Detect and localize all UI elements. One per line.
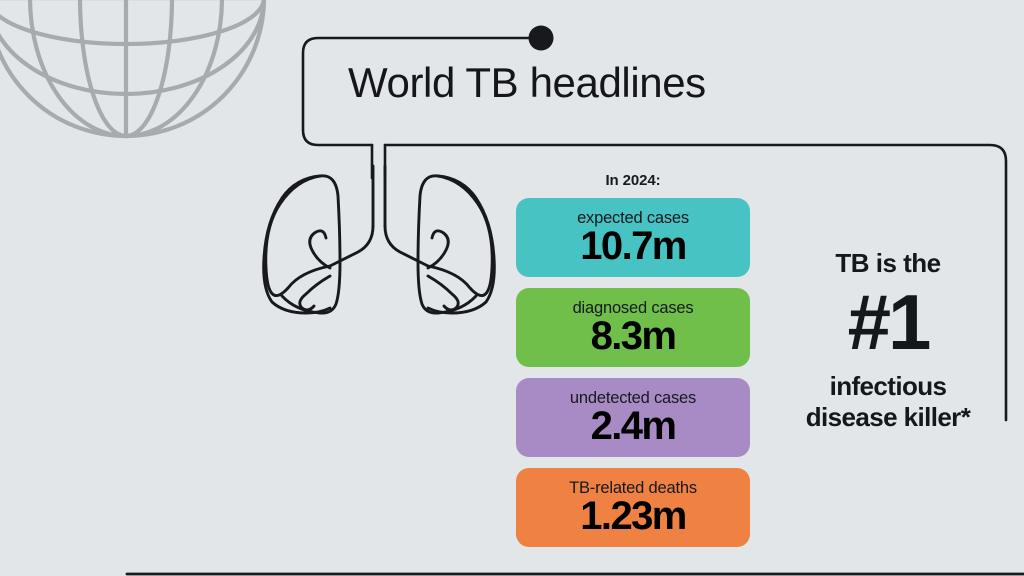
lungs-outline-icon	[264, 166, 495, 313]
stat-value: 1.23m	[580, 496, 685, 537]
callout-trailing-line-1: infectious	[772, 371, 1004, 402]
connector-end-dot	[529, 26, 554, 51]
infographic-canvas: World TB headlines In 2024: expected cas…	[0, 0, 1024, 576]
stat-bar-tb-related-deaths: TB-related deaths 1.23m	[516, 468, 750, 547]
stat-value: 10.7m	[580, 226, 685, 267]
stat-value: 2.4m	[591, 406, 676, 447]
callout-trailing-line-2: disease killer*	[772, 402, 1004, 433]
callout-rank-text: #1	[772, 283, 1004, 361]
page-title: World TB headlines	[348, 62, 768, 104]
stats-column: In 2024: expected cases 10.7m diagnosed …	[516, 172, 750, 558]
wireframe-globe-icon	[0, 0, 264, 136]
stat-bar-diagnosed-cases: diagnosed cases 8.3m	[516, 288, 750, 367]
stat-value: 8.3m	[591, 316, 676, 357]
callout-trailing-text: infectious disease killer*	[772, 371, 1004, 432]
callout-lead-text: TB is the	[772, 250, 1004, 277]
callout-block: TB is the #1 infectious disease killer*	[772, 250, 1004, 433]
stat-bar-expected-cases: expected cases 10.7m	[516, 198, 750, 277]
stats-heading: In 2024:	[516, 172, 750, 189]
stat-bar-undetected-cases: undetected cases 2.4m	[516, 378, 750, 457]
